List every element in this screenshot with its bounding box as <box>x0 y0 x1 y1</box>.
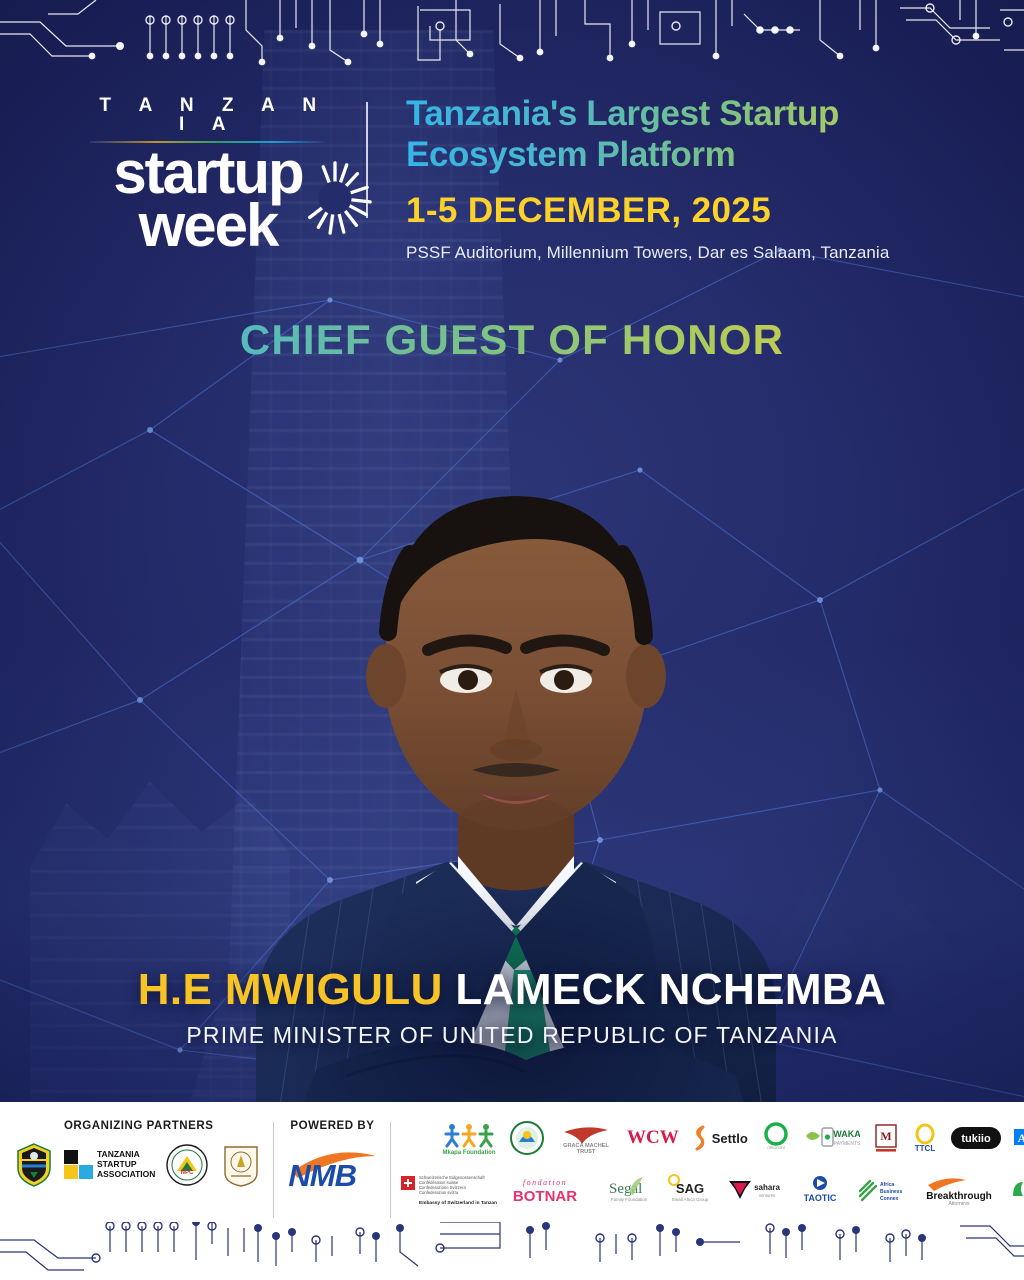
svg-text:Confederaziun svizra: Confederaziun svizra <box>419 1190 459 1195</box>
svg-text:PAYMENTS: PAYMENTS <box>833 1141 859 1147</box>
sponsor-logo: SAG Small Africa Group <box>662 1173 714 1207</box>
nmb-wordmark: NMB <box>288 1158 356 1194</box>
logo-tanzania-word: T A N Z A N I A <box>78 96 338 134</box>
svg-text:fondation: fondation <box>523 1178 567 1187</box>
circuit-pattern-bottom <box>0 1222 1024 1280</box>
africa-business-connex-icon: AfricaBusinessConnex <box>857 1175 909 1205</box>
tsa-squares-icon <box>64 1150 93 1179</box>
coat-of-arms-icon <box>14 1142 54 1188</box>
mkapa-label: Mkapa Foundation <box>442 1150 495 1155</box>
sponsor-logo: tukiio <box>951 1127 1001 1149</box>
tsa-line-3: ASSOCIATION <box>97 1170 155 1180</box>
guest-title: PRIME MINISTER OF UNITED REPUBLIC OF TAN… <box>0 1022 1024 1049</box>
sponsor-logo: Mkapa Foundation <box>442 1121 496 1155</box>
svg-text:TAOTIC: TAOTIC <box>804 1193 837 1203</box>
npc-seal-icon: NPC <box>165 1143 209 1187</box>
sponsor-logo: AIESEC ᐱ in <box>1014 1127 1024 1149</box>
event-logo: T A N Z A N I A startup week <box>78 96 338 253</box>
guest-name: H.E MWIGULU LAMECK NCHEMBA <box>0 966 1024 1014</box>
mkononi-circle-icon: mkononi <box>761 1122 791 1154</box>
africas-talking-icon: Africa's Talking <box>1009 1176 1024 1204</box>
guest-name-rest: LAMECK NCHEMBA <box>455 965 886 1014</box>
wcw-wordmark: WCW <box>627 1127 679 1149</box>
taotic-icon: TAOTIC <box>796 1174 844 1206</box>
waka-payments-icon: WAKA PAYMENTS <box>804 1124 860 1152</box>
tsa-label: TANZANIA STARTUP ASSOCIATION <box>97 1150 155 1179</box>
headline-line-2: Ecosystem Platform <box>406 135 1006 176</box>
sag-icon: SAG Small Africa Group <box>662 1173 714 1207</box>
footer-divider-2 <box>390 1122 391 1218</box>
poster-canvas: T A N Z A N I A startup week <box>0 0 1024 1280</box>
sponsor-logo: Africa's Talking <box>1009 1176 1024 1204</box>
sponsor-logo: WCW <box>627 1127 679 1149</box>
sponsor-logo: mkononi <box>761 1122 791 1154</box>
footer-divider-1 <box>273 1122 274 1218</box>
sunburst-icon <box>296 159 374 237</box>
svg-text:BOTNAR: BOTNAR <box>513 1188 577 1205</box>
chief-guest-eyebrow: CHIEF GUEST OF HONOR <box>0 316 1024 364</box>
logo-startup-week: startup week <box>78 145 338 253</box>
event-venue: PSSF Auditorium, Millennium Towers, Dar … <box>406 243 1006 263</box>
sponsor-logo: fondation BOTNAR <box>510 1175 580 1205</box>
svg-text:WAKA: WAKA <box>833 1129 860 1139</box>
sponsor-logo: Breakthrough Attorneys <box>922 1175 996 1205</box>
sponsor-logo <box>509 1120 545 1156</box>
sponsor-logo: TTCL <box>912 1123 938 1153</box>
svg-text:NPC: NPC <box>181 1170 194 1176</box>
nmb-logo: NMB <box>284 1142 380 1192</box>
sponsor-logo: Settlo <box>692 1125 748 1151</box>
sponsor-logo: sahara ventures <box>727 1177 783 1203</box>
ttcl-icon: TTCL <box>912 1123 938 1153</box>
guest-name-block: H.E MWIGULU LAMECK NCHEMBA PRIME MINISTE… <box>0 966 1024 1049</box>
svg-text:TRUST: TRUST <box>577 1149 596 1154</box>
svg-text:Connex: Connex <box>880 1196 899 1202</box>
sponsor-logo: Schweizerische Eidgenossenschaft Confédé… <box>401 1173 497 1207</box>
svg-text:ventures: ventures <box>759 1193 775 1198</box>
tsa-logo: TANZANIA STARTUP ASSOCIATION <box>64 1150 155 1179</box>
circuit-pattern-top <box>0 0 1024 70</box>
powered-by-label: POWERED BY <box>290 1120 374 1132</box>
m-partner-icon: M <box>873 1123 899 1153</box>
svg-text:Family Foundation: Family Foundation <box>611 1197 648 1202</box>
swiss-embassy-icon: Schweizerische Eidgenossenschaft Confédé… <box>401 1173 497 1207</box>
sponsor-logo: AfricaBusinessConnex <box>857 1175 909 1205</box>
poster-header: T A N Z A N I A startup week <box>0 88 1024 298</box>
svg-text:Business: Business <box>880 1189 902 1195</box>
guest-name-highlight: H.E MWIGULU <box>138 965 443 1014</box>
fondation-botnar-icon: fondation BOTNAR <box>510 1175 580 1205</box>
organizing-partner-logos: TANZANIA STARTUP ASSOCIATION NPC <box>14 1142 263 1188</box>
tukiio-icon: tukiio <box>951 1127 1001 1149</box>
header-text-group: Tanzania's Largest Startup Ecosystem Pla… <box>406 94 1006 263</box>
sponsor-row-2: Schweizerische Eidgenossenschaft Confédé… <box>401 1166 1024 1214</box>
svg-text:Africa: Africa <box>880 1182 894 1188</box>
settlo-wordmark: Settlo <box>712 1131 748 1146</box>
svg-text:SAG: SAG <box>676 1181 704 1196</box>
sponsor-logo: Segal Family Foundation <box>593 1173 649 1207</box>
portrait-shadow <box>236 712 796 1132</box>
powered-by-section: POWERED BY NMB <box>284 1110 380 1230</box>
partner-seal-icon <box>509 1120 545 1156</box>
headline-line-1: Tanzania's Largest Startup <box>406 94 1006 135</box>
sponsor-logo: WAKA PAYMENTS <box>804 1124 860 1152</box>
mkapa-foundation-icon: Mkapa Foundation <box>442 1121 496 1155</box>
sponsors-section: Mkapa Foundation GRACA MACHEL <box>401 1110 1024 1230</box>
sponsor-row-1: Mkapa Foundation GRACA MACHEL <box>442 1114 1024 1162</box>
svg-text:sahara: sahara <box>755 1183 781 1192</box>
sponsor-logo: M <box>873 1123 899 1153</box>
settlo-mark-icon <box>692 1125 708 1151</box>
partners-footer: ORGANIZING PARTNERS TANZANI <box>0 1102 1024 1234</box>
svg-text:Small Africa Group: Small Africa Group <box>672 1197 709 1202</box>
svg-text:tukiio: tukiio <box>961 1133 991 1145</box>
svg-text:Embassy of Switzerland in Tanz: Embassy of Switzerland in Tanzania <box>419 1200 497 1206</box>
gov-seal-icon <box>219 1143 263 1187</box>
event-date: 1-5 DECEMBER, 2025 <box>406 191 1006 231</box>
sponsor-logo: GRACA MACHEL TRUST <box>558 1122 614 1154</box>
header-divider <box>366 102 368 218</box>
sahara-ventures-icon: sahara ventures <box>727 1177 783 1203</box>
aiesec-in-tanzania-icon: AIESEC ᐱ in <box>1014 1127 1024 1149</box>
svg-text:Attorneys: Attorneys <box>949 1201 971 1205</box>
svg-text:M: M <box>880 1129 891 1143</box>
svg-text:mkononi: mkononi <box>767 1145 784 1150</box>
organizing-partners-section: ORGANIZING PARTNERS TANZANI <box>14 1110 263 1230</box>
organizing-partners-label: ORGANIZING PARTNERS <box>64 1120 214 1132</box>
svg-text:AIESEC: AIESEC <box>1017 1131 1024 1145</box>
breakthrough-attorneys-icon: Breakthrough Attorneys <box>922 1175 996 1205</box>
sponsor-logo: TAOTIC <box>796 1174 844 1206</box>
segal-family-foundation-icon: Segal Family Foundation <box>593 1173 649 1207</box>
graca-machel-trust-icon: GRACA MACHEL TRUST <box>558 1122 614 1154</box>
svg-text:TTCL: TTCL <box>915 1144 936 1153</box>
